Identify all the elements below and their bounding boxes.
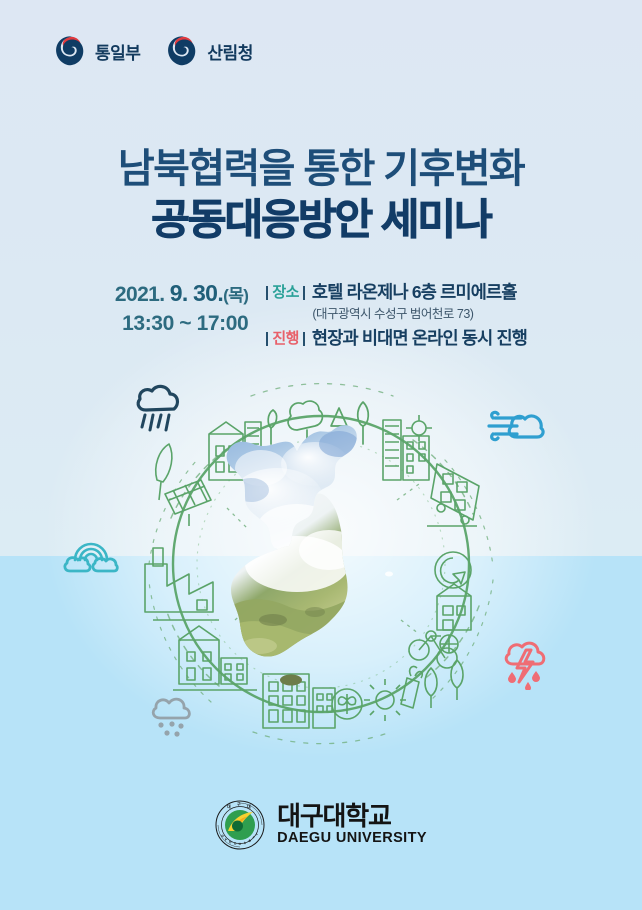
tag-bar-left-icon — [266, 332, 268, 346]
date-month: 9. — [170, 280, 188, 306]
venue-address: (대구광역시 수성구 범어천로 73) — [312, 303, 527, 322]
svg-text:대: 대 — [247, 803, 251, 809]
event-time: 13:30 ~ 17:00 — [115, 311, 248, 338]
title-line-2: 공동대응방안 세미나 — [0, 195, 642, 245]
rain-cloud-icon — [132, 382, 184, 438]
svg-text:대: 대 — [227, 803, 231, 809]
date-day: 30. — [193, 280, 223, 306]
university-logo: 대구대 D A E G U U N I V 대구대학교 DAEGU UNIVER… — [0, 800, 642, 850]
korean-peninsula-map — [227, 425, 393, 685]
mode-tag-label: 진행 — [272, 327, 299, 348]
event-details: 장소 호텔 라온제나 6층 르미에르홀 (대구광역시 수성구 범어천로 73) … — [266, 278, 527, 350]
event-info-block: 2021. 9. 30.(목) 13:30 ~ 17:00 장소 호텔 라온제나… — [0, 278, 642, 350]
university-name: 대구대학교 DAEGU UNIVERSITY — [277, 803, 427, 847]
svg-text:N: N — [248, 838, 253, 843]
seminar-poster: 통일부 산림청 남북협력을 통한 기후변화 공동대응방안 세미나 2021. 9… — [0, 0, 642, 910]
org-label: 산림청 — [207, 39, 252, 64]
thunderstorm-icon — [500, 638, 548, 690]
university-name-ko: 대구대학교 — [277, 803, 427, 830]
detail-row-venue: 장소 호텔 라온제나 6층 르미에르홀 — [266, 279, 527, 304]
rainbow-cloud-icon — [62, 533, 120, 575]
org-label: 통일부 — [95, 39, 140, 64]
tag-bar-right-icon — [303, 332, 305, 346]
wind-cloud-icon — [487, 404, 547, 446]
mode-value: 현장과 비대면 온라인 동시 진행 — [312, 325, 527, 350]
snow-cloud-icon — [147, 694, 195, 742]
venue-tag-wrap: 장소 — [266, 281, 305, 302]
taegeuk-emblem-icon — [164, 34, 198, 68]
date-year: 2021. — [115, 283, 165, 306]
org-logo-forest-service: 산림청 — [164, 34, 252, 68]
org-logo-unification: 통일부 — [52, 34, 140, 68]
daegu-university-seal-icon: 대구대 D A E G U U N I V — [215, 800, 265, 850]
tag-bar-right-icon — [303, 286, 305, 300]
taegeuk-emblem-icon — [52, 34, 86, 68]
svg-text:A: A — [224, 837, 229, 842]
venue-tag-label: 장소 — [272, 281, 299, 302]
event-date: 2021. 9. 30.(목) — [115, 279, 248, 309]
university-name-en: DAEGU UNIVERSITY — [277, 831, 427, 847]
government-logo-row: 통일부 산림청 — [52, 34, 253, 68]
venue-value: 호텔 라온제나 6층 르미에르홀 — [312, 279, 517, 304]
event-datetime: 2021. 9. 30.(목) 13:30 ~ 17:00 — [115, 278, 248, 338]
svg-text:구: 구 — [237, 801, 241, 807]
svg-text:U: U — [243, 841, 247, 846]
title-line-1: 남북협력을 통한 기후변화 — [0, 146, 642, 193]
poster-title: 남북협력을 통한 기후변화 공동대응방안 세미나 — [0, 146, 642, 245]
date-weekday: (목) — [223, 286, 248, 305]
mode-tag-wrap: 진행 — [266, 327, 305, 348]
detail-row-mode: 진행 현장과 비대면 온라인 동시 진행 — [266, 325, 527, 350]
detail-group-venue: 장소 호텔 라온제나 6층 르미에르홀 (대구광역시 수성구 범어천로 73) — [266, 279, 527, 322]
svg-text:U: U — [238, 842, 241, 846]
tag-bar-left-icon — [266, 286, 268, 300]
